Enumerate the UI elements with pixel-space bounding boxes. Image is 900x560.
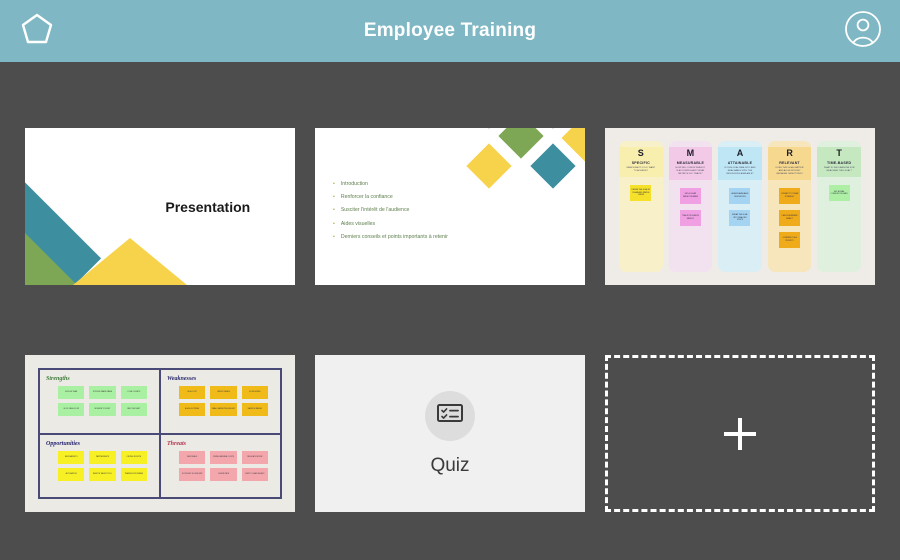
smart-column-a[interactable]: AATTAINABLEIS THIS GOAL REALISTIC AND RE… <box>718 141 762 272</box>
smart-note-stack: DEFINE THE GOAL IN CLEAR AND SIMPLE TERM… <box>630 185 651 201</box>
list-item: • Introduction <box>333 182 448 187</box>
smart-note-stack: SET A FINAL COMPLETION DATE <box>829 185 850 201</box>
quiz-badge <box>425 391 475 441</box>
list-item: • Susciter l'intérêt de l'audience <box>333 208 448 213</box>
bullet-marker: • <box>333 208 335 213</box>
sticky-note[interactable]: CHECK BUSINESS IMPACT <box>779 210 800 226</box>
list-item-label: Susciter l'intérêt de l'audience <box>341 208 410 213</box>
sticky-note[interactable]: STRONG BRAND NAME <box>89 386 115 399</box>
swot-note-grid: SKILLED TEAMSTRONG BRAND NAMELOYAL CLIEN… <box>46 386 155 416</box>
list-item-label: Renforcer la confiance <box>341 195 393 200</box>
swot-quadrant-weaknesses[interactable]: WeaknessesHIGH COSTLIMITED REACHSLOW HIR… <box>160 369 281 434</box>
sticky-note[interactable]: SUPPLY CHAIN DELAYS <box>242 468 268 481</box>
sticky-note[interactable]: NARROW RANGE <box>242 403 268 416</box>
swot-note-grid: HIGH COSTLIMITED REACHSLOW HIRINGAGING S… <box>167 386 276 416</box>
sticky-note[interactable]: PARTNERSHIPS <box>89 451 115 464</box>
app-logo[interactable] <box>16 10 58 52</box>
sticky-note[interactable]: FAST DELIVERY <box>121 403 147 416</box>
user-avatar-icon <box>844 10 882 53</box>
smart-board: SSPECIFICWHAT EXACTLY DO I WANT TO ACHIE… <box>605 128 875 285</box>
smart-note-stack: CONNECT TO TEAM STRATEGYCHECK BUSINESS I… <box>779 188 800 248</box>
avatar[interactable] <box>842 10 884 52</box>
smart-column-m[interactable]: MMEASURABLEHOW WILL I KNOW WHEN IT IS AC… <box>669 141 713 272</box>
list-item: • Aides visuelles <box>333 222 448 227</box>
bullet-marker: • <box>333 195 335 200</box>
agenda-bullet-list: • Introduction • Renforcer la confiance … <box>333 182 448 240</box>
sticky-note[interactable]: SKILLED TEAM <box>58 386 84 399</box>
quiz-checklist-icon <box>435 398 465 433</box>
sticky-note[interactable]: CONNECT TO TEAM STRATEGY <box>779 188 800 204</box>
quiz-label: Quiz <box>430 455 469 477</box>
smart-column-header: MMEASURABLEHOW WILL I KNOW WHEN IT IS AC… <box>669 147 713 180</box>
slide-thumbnail-smart[interactable]: SSPECIFICWHAT EXACTLY DO I WANT TO ACHIE… <box>605 128 875 285</box>
decor-green-triangle <box>25 233 77 285</box>
swot-quadrant-label: Weaknesses <box>167 376 276 382</box>
sticky-note[interactable]: TRAINING PROGRAMS <box>121 468 147 481</box>
list-item-label: Derniers conseils et points importants à… <box>341 235 448 240</box>
swot-grid: StrengthsSKILLED TEAMSTRONG BRAND NAMELO… <box>38 368 282 499</box>
smart-description: HOW WILL I KNOW WHEN IT IS ACCOMPLISHED?… <box>672 167 710 176</box>
smart-column-r[interactable]: RRELEVANTDOES THIS GOAL MATTER AND ALIGN… <box>768 141 812 272</box>
swot-quadrant-threats[interactable]: ThreatsNEW RIVALSRISING MATERIAL COSTSRE… <box>160 434 281 499</box>
swot-quadrant-label: Threats <box>167 441 276 447</box>
swot-quadrant-label: Opportunities <box>46 441 155 447</box>
sticky-note[interactable]: SMALL MARKETING BUDGET <box>210 403 236 416</box>
smart-description: DOES THIS GOAL MATTER AND ALIGN WITH MY … <box>771 167 809 176</box>
sticky-note[interactable]: AUTOMATION <box>58 468 84 481</box>
slide-thumbnail-quiz[interactable]: Quiz <box>315 355 585 512</box>
smart-column-s[interactable]: SSPECIFICWHAT EXACTLY DO I WANT TO ACHIE… <box>619 141 663 272</box>
smart-description: WHAT EXACTLY DO I WANT TO ACHIEVE? <box>622 167 660 173</box>
smart-note-stack: ASSESS AVAILABLE RESOURCESBREAK THE GOAL… <box>729 188 750 226</box>
sticky-note[interactable]: DEFINE THE GOAL IN CLEAR AND SIMPLE TERM… <box>630 185 651 201</box>
sticky-note[interactable]: RISING MATERIAL COSTS <box>210 451 236 464</box>
swot-note-grid: NEW MARKETSPARTNERSHIPSONLINE GROWTHAUTO… <box>46 451 155 481</box>
smart-letter: T <box>836 149 842 159</box>
bullet-marker: • <box>333 182 335 187</box>
list-item: • Renforcer la confiance <box>333 195 448 200</box>
smart-description: IS THIS GOAL REALISTIC AND REACHABLE WIT… <box>721 167 759 176</box>
smart-letter: A <box>737 149 744 159</box>
sticky-note[interactable]: AGING SYSTEMS <box>179 403 205 416</box>
smart-word: TIME-BASED <box>827 161 851 165</box>
app-header: Employee Training <box>0 0 900 62</box>
page-title: Employee Training <box>364 20 536 42</box>
list-item: • Derniers conseils et points importants… <box>333 235 448 240</box>
smart-letter: S <box>638 149 644 159</box>
list-item-label: Aides visuelles <box>341 222 375 227</box>
smart-word: ATTAINABLE <box>728 161 752 165</box>
sticky-note[interactable]: HIGH COST <box>179 386 205 399</box>
sticky-note[interactable]: CHURN RATE <box>210 468 236 481</box>
sticky-note[interactable]: CONFIRM IT IS A PRIORITY <box>779 232 800 248</box>
bullet-marker: • <box>333 222 335 227</box>
swot-note-grid: NEW RIVALSRISING MATERIAL COSTSREGULATIO… <box>167 451 276 481</box>
smart-column-t[interactable]: TTIME-BASEDWHAT IS THE DEADLINE FOR REAC… <box>817 141 861 272</box>
slide-title-text: Presentation <box>165 199 250 215</box>
swot-quadrant-opportunities[interactable]: OpportunitiesNEW MARKETSPARTNERSHIPSONLI… <box>39 434 160 499</box>
decor-yellow-triangle <box>73 238 187 285</box>
smart-word: SPECIFIC <box>632 161 650 165</box>
smart-word: MEASURABLE <box>677 161 704 165</box>
sticky-note[interactable]: TRACK PROGRESS WEEKLY <box>680 210 701 226</box>
sticky-note[interactable]: MODERN TOOLSET <box>89 403 115 416</box>
smart-word: RELEVANT <box>779 161 800 165</box>
sticky-note[interactable]: SET A CLEAR TARGET NUMBER <box>680 188 701 204</box>
smart-note-stack: SET A CLEAR TARGET NUMBERTRACK PROGRESS … <box>680 188 701 226</box>
smart-column-header: AATTAINABLEIS THIS GOAL REALISTIC AND RE… <box>718 147 762 180</box>
sticky-note[interactable]: SET A FINAL COMPLETION DATE <box>829 185 850 201</box>
bullet-marker: • <box>333 235 335 240</box>
slide-thumbnail-swot[interactable]: StrengthsSKILLED TEAMSTRONG BRAND NAMELO… <box>25 355 295 512</box>
sticky-note[interactable]: BREAK THE GOAL INTO SMALLER STEPS <box>729 210 750 226</box>
sticky-note[interactable]: ASSESS AVAILABLE RESOURCES <box>729 188 750 204</box>
sticky-note[interactable]: REMOTE TALENT POOL <box>89 468 115 481</box>
slide-thumbnail-title[interactable]: Presentation <box>25 128 295 285</box>
swot-quadrant-label: Strengths <box>46 376 155 382</box>
smart-column-header: RRELEVANTDOES THIS GOAL MATTER AND ALIGN… <box>768 147 812 180</box>
smart-letter: R <box>786 149 793 159</box>
smart-letter: M <box>687 149 695 159</box>
smart-column-header: SSPECIFICWHAT EXACTLY DO I WANT TO ACHIE… <box>619 147 663 177</box>
list-item-label: Introduction <box>341 182 368 187</box>
add-slide-button[interactable] <box>605 355 875 512</box>
sticky-note[interactable]: LIMITED REACH <box>210 386 236 399</box>
sticky-note[interactable]: GOOD CASH FLOW <box>58 403 84 416</box>
sticky-note[interactable]: ECONOMIC SLOWDOWN <box>179 468 205 481</box>
plus-icon <box>724 418 756 450</box>
sticky-note[interactable]: REGULATION RISK <box>242 451 268 464</box>
sticky-note[interactable]: NEW RIVALS <box>179 451 205 464</box>
slide-grid: Presentation • Introduction • <box>0 62 900 512</box>
swot-quadrant-strengths[interactable]: StrengthsSKILLED TEAMSTRONG BRAND NAMELO… <box>39 369 160 434</box>
smart-description: WHAT IS THE DEADLINE FOR REACHING THIS G… <box>820 167 858 173</box>
sticky-note[interactable]: NEW MARKETS <box>58 451 84 464</box>
smart-column-header: TTIME-BASEDWHAT IS THE DEADLINE FOR REAC… <box>817 147 861 177</box>
slide-thumbnail-agenda[interactable]: • Introduction • Renforcer la confiance … <box>315 128 585 285</box>
decor-diamond-cluster <box>459 128 585 203</box>
sticky-note[interactable]: SLOW HIRING <box>242 386 268 399</box>
sticky-note[interactable]: LOYAL CLIENTS <box>121 386 147 399</box>
pentagon-logo-icon <box>19 11 55 52</box>
sticky-note[interactable]: ONLINE GROWTH <box>121 451 147 464</box>
